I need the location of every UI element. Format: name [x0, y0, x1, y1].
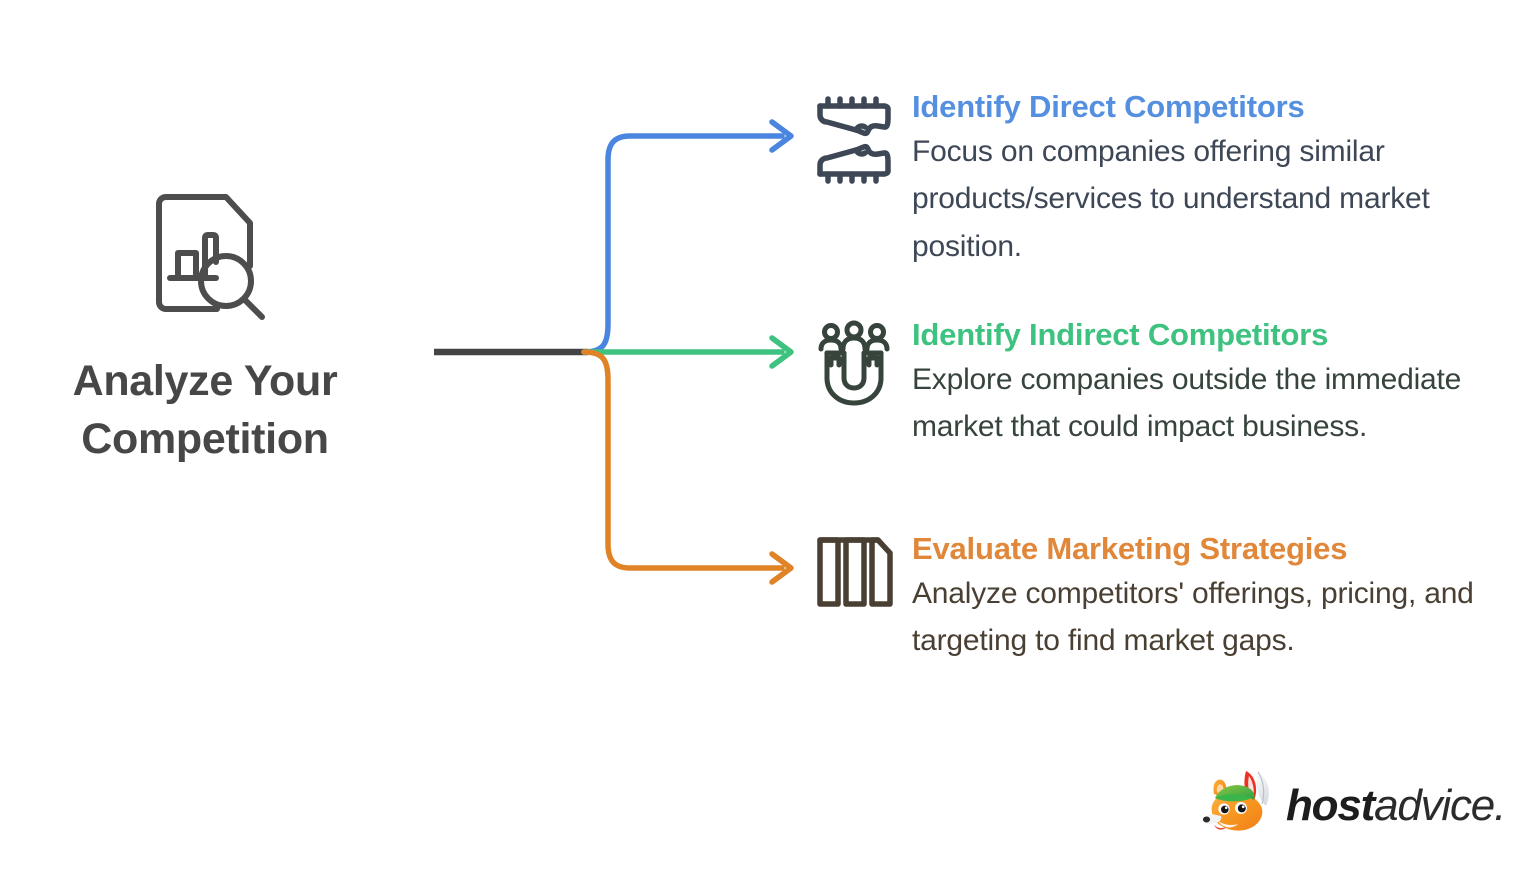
magnet-people-icon [806, 316, 902, 408]
branch-item-identify-direct-competitors: Identify Direct Competitors Focus on com… [806, 88, 1506, 270]
branch-heading: Identify Indirect Competitors [912, 316, 1506, 354]
connector-arrow-1 [772, 122, 791, 150]
connector-branch-1 [584, 136, 782, 352]
root-title: Analyze Your Competition [40, 352, 370, 469]
branch-body: Analyze competitors' offerings, pricing,… [912, 570, 1506, 665]
branch-body: Focus on companies offering similar prod… [912, 128, 1506, 270]
branch-text-block: Identify Direct Competitors Focus on com… [902, 88, 1506, 270]
logo-word-host: host [1286, 781, 1374, 830]
fox-mascot-icon [1202, 768, 1278, 843]
branch-text-block: Identify Indirect Competitors Explore co… [902, 316, 1506, 451]
branch-text-block: Evaluate Marketing Strategies Analyze co… [902, 530, 1506, 665]
soccer-cleats-icon [806, 88, 902, 188]
hostadvice-logo: hostadvice. [1202, 768, 1505, 843]
branch-item-identify-indirect-competitors: Identify Indirect Competitors Explore co… [806, 316, 1506, 451]
branch-item-evaluate-marketing-strategies: Evaluate Marketing Strategies Analyze co… [806, 530, 1506, 665]
logo-word-advice: advice. [1374, 781, 1505, 830]
connector-arrow-3 [772, 554, 791, 582]
columns-document-icon [806, 530, 902, 612]
logo-wordmark: hostadvice. [1286, 784, 1505, 828]
root-node: Analyze Your Competition [40, 190, 370, 469]
branch-heading: Identify Direct Competitors [912, 88, 1506, 126]
connector-branch-3 [584, 352, 782, 568]
branch-heading: Evaluate Marketing Strategies [912, 530, 1506, 568]
document-chart-search-icon [40, 190, 370, 330]
infographic-canvas: Analyze Your Competition [0, 0, 1540, 872]
branch-body: Explore companies outside the immediate … [912, 356, 1506, 451]
connector-arrow-2 [772, 338, 791, 366]
